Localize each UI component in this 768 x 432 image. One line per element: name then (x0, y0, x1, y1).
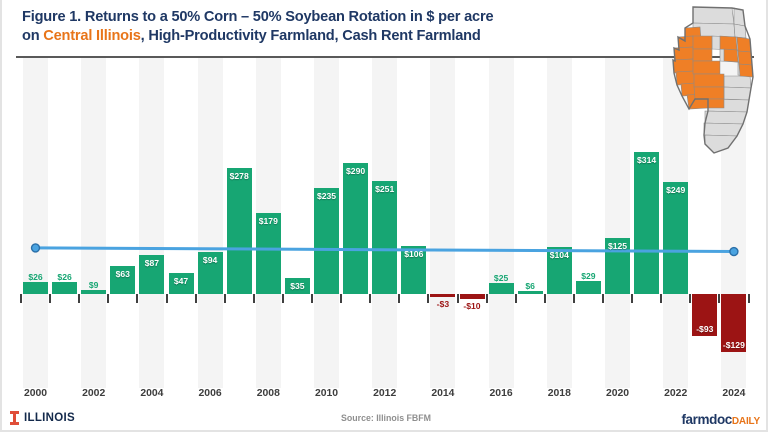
chart-title-line-2: on Central Illinois, High-Productivity F… (22, 27, 662, 46)
illinois-map-inset (660, 4, 762, 156)
bar-label-2020: $125 (599, 241, 636, 251)
x-axis-label-2018: 2018 (539, 388, 579, 399)
bar-label-2018: $104 (541, 250, 578, 260)
bar-label-2008: $179 (250, 216, 287, 226)
x-axis-label-2006: 2006 (190, 388, 230, 399)
x-axis-label-2024: 2024 (714, 388, 754, 399)
chart-title-block: Figure 1. Returns to a 50% Corn – 50% So… (22, 8, 662, 45)
bar-label-2024: -$129 (715, 340, 752, 350)
bar-label-2015: -$10 (454, 301, 491, 311)
source-note: Source: Illinois FBFM (2, 413, 768, 423)
plot-area: $26$26$9$63$87$47$94$278$179$35$235$290$… (2, 56, 768, 388)
bar-label-2012: $251 (366, 184, 403, 194)
bar-label-2011: $290 (337, 166, 374, 176)
bar-label-2022: $249 (657, 185, 694, 195)
trend-line-layer (2, 56, 768, 388)
figure-footer: ILLINOIS Source: Illinois FBFM farmdocDA… (2, 408, 768, 432)
x-axis-label-2002: 2002 (74, 388, 114, 399)
farmdoc-daily-wordmark: DAILY (732, 416, 760, 427)
x-axis-label-2016: 2016 (481, 388, 521, 399)
figure-container: Figure 1. Returns to a 50% Corn – 50% So… (0, 0, 768, 432)
bar-label-2003: $63 (104, 269, 141, 279)
x-axis-label-2022: 2022 (656, 388, 696, 399)
trend-start-marker (32, 244, 40, 252)
bar-label-2002: $9 (75, 280, 112, 290)
bar-label-2004: $87 (133, 258, 170, 268)
bar-label-2013: $106 (395, 249, 432, 259)
bar-label-2023: -$93 (686, 324, 723, 334)
bar-label-2021: $314 (628, 155, 665, 165)
x-axis-label-2020: 2020 (598, 388, 638, 399)
bar-label-2010: $235 (308, 191, 345, 201)
chart-title-line-1: Figure 1. Returns to a 50% Corn – 50% So… (22, 8, 662, 27)
x-axis-label-2000: 2000 (16, 388, 56, 399)
illinois-map-svg (660, 4, 762, 156)
x-axis-labels: 2000200220042006200820102012201420162018… (2, 388, 768, 408)
bar-label-2017: $6 (512, 281, 549, 291)
trend-end-marker (730, 248, 738, 256)
bar-label-2019: $29 (570, 271, 607, 281)
x-axis-label-2008: 2008 (248, 388, 288, 399)
bar-label-2007: $278 (221, 171, 258, 181)
chart-subtitle-prefix: on (22, 28, 43, 44)
chart-subtitle-region: Central Illinois (43, 28, 140, 44)
bar-label-2005: $47 (163, 276, 200, 286)
farmdoc-wordmark: farmdoc (681, 412, 731, 427)
x-axis-label-2014: 2014 (423, 388, 463, 399)
chart-subtitle-suffix: , High-Productivity Farmland, Cash Rent … (141, 28, 481, 44)
x-axis-label-2010: 2010 (307, 388, 347, 399)
farmdoc-daily-logo: farmdocDAILY (681, 412, 760, 427)
x-axis-label-2012: 2012 (365, 388, 405, 399)
bar-label-2009: $35 (279, 281, 316, 291)
x-axis-label-2004: 2004 (132, 388, 172, 399)
bar-label-2006: $94 (192, 255, 229, 265)
